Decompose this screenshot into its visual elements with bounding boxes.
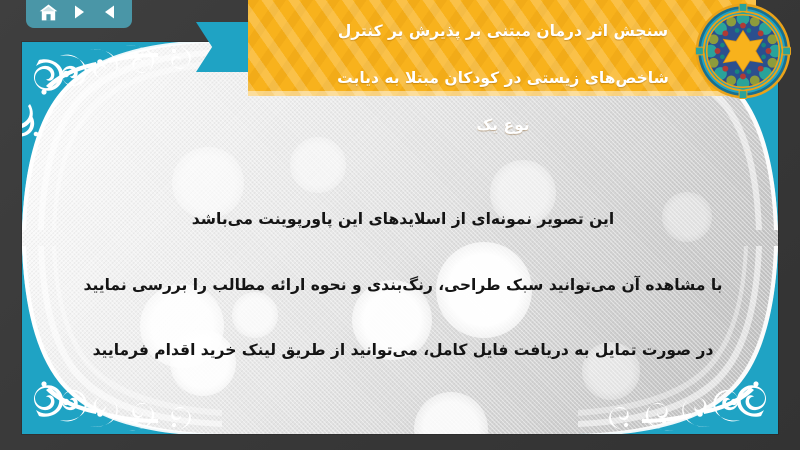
triangle-right-icon bbox=[71, 4, 87, 20]
slide-navigation-bar[interactable] bbox=[26, 0, 132, 28]
slide-frame: این تصویر نمونه‌ای از اسلایدهای این پاور… bbox=[22, 42, 778, 434]
triangle-left-icon bbox=[102, 4, 118, 20]
next-slide-button[interactable] bbox=[66, 1, 92, 23]
slide-preview-root: این تصویر نمونه‌ای از اسلایدهای این پاور… bbox=[0, 0, 800, 450]
body-line-3: در صورت تمایل به دریافت فایل کامل، می‌تو… bbox=[62, 334, 744, 367]
home-button[interactable] bbox=[35, 1, 61, 23]
slide-body-text: این تصویر نمونه‌ای از اسلایدهای این پاور… bbox=[62, 170, 744, 400]
body-line-2: با مشاهده آن می‌توانید سبک طراحی، رنگ‌بن… bbox=[62, 269, 744, 302]
body-line-1: این تصویر نمونه‌ای از اسلایدهای این پاور… bbox=[62, 203, 744, 236]
home-icon bbox=[39, 4, 58, 21]
prev-slide-button[interactable] bbox=[97, 1, 123, 23]
